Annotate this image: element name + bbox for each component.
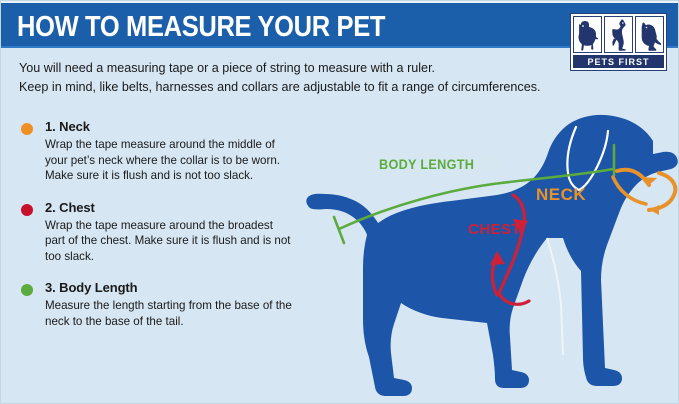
dog-standing-icon	[573, 16, 602, 53]
bullet-dot-green	[21, 284, 33, 296]
dog-measurement-diagram: BODY LENGTH NECK CHEST	[301, 105, 679, 404]
dog-diagram-svg	[301, 105, 679, 404]
intro-line-2: Keep in mind, like belts, harnesses and …	[19, 78, 564, 97]
step-body: Measure the length starting from the bas…	[45, 298, 294, 329]
step-title: 1. Neck	[45, 119, 294, 134]
label-body-length: BODY LENGTH	[379, 157, 474, 172]
step-item-neck: 1. Neck Wrap the tape measure around the…	[19, 119, 294, 184]
page-title: HOW TO MEASURE YOUR PET	[17, 10, 385, 44]
steps-list: 1. Neck Wrap the tape measure around the…	[19, 119, 294, 345]
label-neck: NECK	[536, 185, 586, 205]
step-title: 3. Body Length	[45, 280, 294, 295]
label-chest: CHEST	[468, 221, 521, 238]
logo-wordmark: PETS FIRST	[573, 55, 664, 68]
intro-text: You will need a measuring tape or a piec…	[19, 59, 564, 97]
bullet-dot-orange	[21, 123, 33, 135]
intro-line-1: You will need a measuring tape or a piec…	[19, 59, 564, 78]
step-body: Wrap the tape measure around the broades…	[45, 218, 294, 265]
pet-measuring-infographic: HOW TO MEASURE YOUR PET	[0, 0, 679, 404]
step-body: Wrap the tape measure around the middle …	[45, 137, 294, 184]
logo-icon-boxes	[573, 16, 664, 53]
dog-sitting-howling-icon	[604, 16, 633, 53]
step-item-chest: 2. Chest Wrap the tape measure around th…	[19, 200, 294, 265]
step-title: 2. Chest	[45, 200, 294, 215]
bullet-dot-red	[21, 204, 33, 216]
brand-logo: PETS FIRST	[570, 13, 667, 71]
dog-sitting-icon	[635, 16, 664, 53]
step-item-body-length: 3. Body Length Measure the length starti…	[19, 280, 294, 329]
